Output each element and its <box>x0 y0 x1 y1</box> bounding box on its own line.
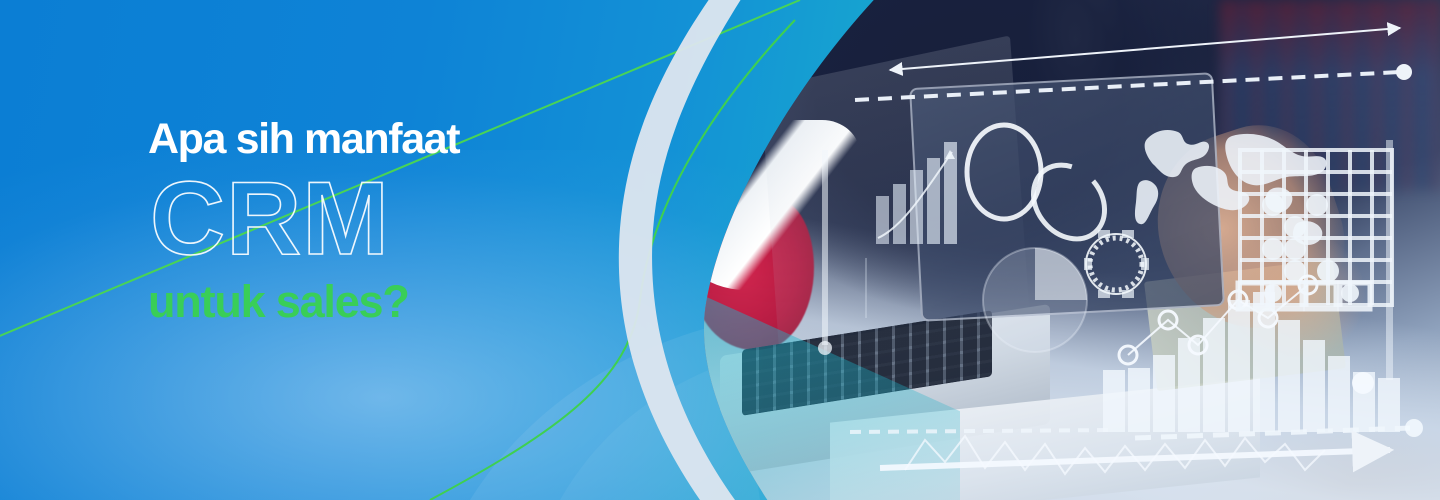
photo-clip <box>680 0 1440 500</box>
tablet-device <box>909 72 1225 322</box>
crm-banner: 100 75 23% 100 90 80 70 60 Apa sih manfa… <box>0 0 1440 500</box>
headline-line-3: untuk sales? <box>148 279 668 324</box>
headline-line-1: Apa sih manfaat <box>148 118 668 161</box>
headline-crm-outline: CRM <box>150 167 668 271</box>
photo-panel <box>680 0 1440 500</box>
photo-image <box>680 0 1440 500</box>
headline-block: Apa sih manfaat CRM untuk sales? <box>148 118 668 324</box>
hand-secondary <box>1225 230 1365 360</box>
